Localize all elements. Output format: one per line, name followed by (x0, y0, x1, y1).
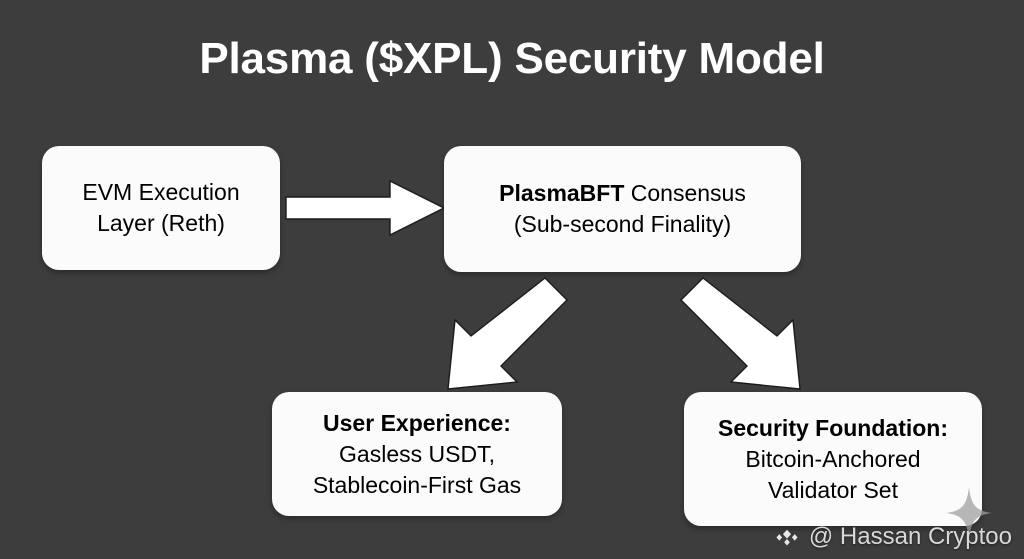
node-security-line-2: Bitcoin-Anchored (745, 444, 920, 475)
node-security-heading: Security Foundation: (718, 413, 948, 444)
node-security-foundation[interactable]: Security Foundation: Bitcoin-Anchored Va… (684, 392, 982, 526)
node-security-line-3: Validator Set (768, 475, 898, 506)
node-user-experience[interactable]: User Experience: Gasless USDT, Stablecoi… (272, 392, 562, 516)
arrow-consensus-to-security (681, 278, 800, 389)
diagram-canvas: Plasma ($XPL) Security Model EVM Executi… (0, 0, 1024, 559)
node-consensus-line-1: PlasmaBFT Consensus (499, 178, 746, 209)
arrow-evm-to-consensus (286, 181, 444, 235)
node-evm-execution-layer[interactable]: EVM Execution Layer (Reth) (42, 146, 280, 270)
node-plasmabft-consensus[interactable]: PlasmaBFT Consensus (Sub-second Finality… (444, 146, 801, 272)
node-consensus-bold-prefix: PlasmaBFT (499, 180, 624, 206)
node-ux-heading: User Experience: (323, 408, 511, 439)
node-consensus-line-2: (Sub-second Finality) (514, 209, 731, 240)
node-evm-line-2: Layer (Reth) (97, 208, 225, 239)
node-evm-line-1: EVM Execution (82, 177, 239, 208)
watermark: @ Hassan Cryptoo (774, 523, 1012, 551)
binance-diamond-icon (774, 524, 800, 550)
node-ux-line-2: Gasless USDT, (339, 439, 495, 470)
node-ux-line-3: Stablecoin-First Gas (313, 470, 521, 501)
page-title: Plasma ($XPL) Security Model (0, 34, 1024, 84)
watermark-handle: @ Hassan Cryptoo (809, 523, 1012, 551)
node-consensus-rest: Consensus (624, 180, 745, 206)
arrow-consensus-to-ux (448, 278, 567, 389)
